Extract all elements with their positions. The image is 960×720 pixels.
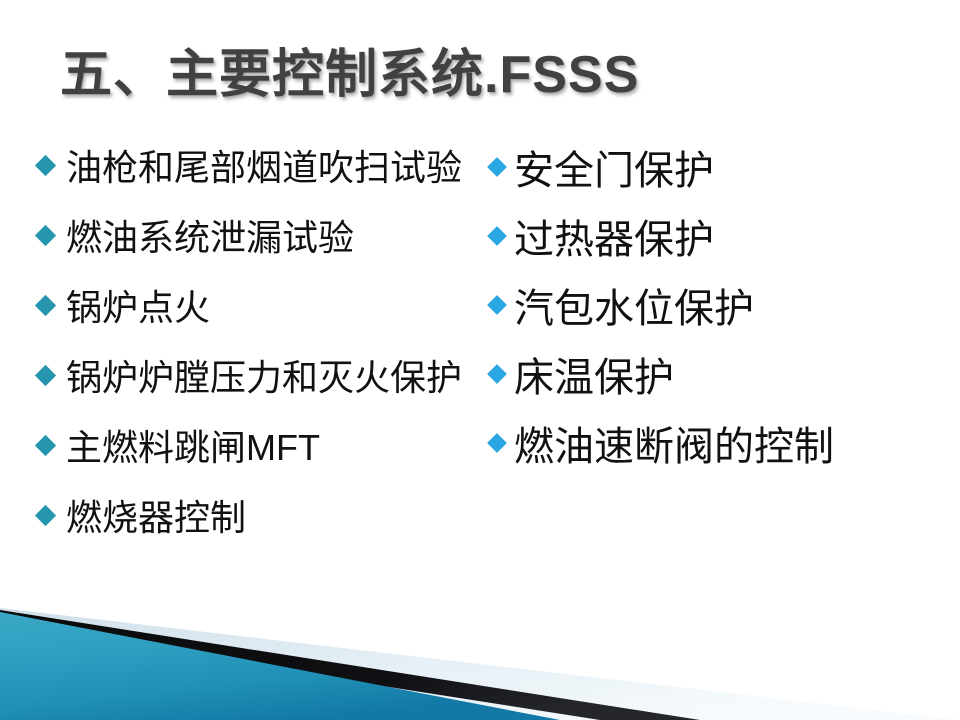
list-item[interactable]: 燃油系统泄漏试验: [30, 200, 490, 270]
diamond-bullet-icon: [35, 434, 56, 455]
list-item-label: 燃油速断阀的控制: [514, 414, 834, 472]
right-bullet-list: 安全门保护 过热器保护 汽包水位保护 床温保护 燃油速断阀的控制: [482, 132, 952, 477]
list-item[interactable]: 燃烧器控制: [30, 480, 490, 550]
list-item[interactable]: 安全门保护: [482, 132, 952, 201]
list-item-label: 汽包水位保护: [514, 276, 754, 334]
bottom-decorative-banner: [0, 580, 960, 720]
list-item-label: 锅炉炉膛压力和灭火保护: [66, 349, 462, 401]
banner-teal-wedge: [0, 612, 560, 720]
list-item[interactable]: 主燃料跳闸MFT: [30, 410, 490, 480]
list-item[interactable]: 燃油速断阀的控制: [482, 408, 952, 477]
list-item[interactable]: 汽包水位保护: [482, 270, 952, 339]
diamond-bullet-icon: [487, 295, 507, 315]
list-item-label: 油枪和尾部烟道吹扫试验: [66, 139, 462, 191]
list-item[interactable]: 过热器保护: [482, 201, 952, 270]
banner-black-stripe: [0, 610, 700, 720]
list-item-label: 主燃料跳闸MFT: [66, 419, 320, 471]
diamond-bullet-icon: [35, 224, 56, 245]
banner-pale-band: [0, 608, 960, 720]
page-title: 五、主要控制系统.FSSS: [60, 48, 639, 103]
diamond-bullet-icon: [35, 294, 56, 315]
list-item-label: 床温保护: [514, 345, 674, 403]
list-item[interactable]: 锅炉点火: [30, 270, 490, 340]
list-item[interactable]: 油枪和尾部烟道吹扫试验: [30, 130, 490, 200]
presentation-slide: 五、主要控制系统.FSSS 油枪和尾部烟道吹扫试验 燃油系统泄漏试验 锅炉点火 …: [0, 0, 960, 720]
diamond-bullet-icon: [35, 504, 56, 525]
list-item[interactable]: 床温保护: [482, 339, 952, 408]
list-item-label: 燃油系统泄漏试验: [66, 209, 354, 261]
list-item[interactable]: 锅炉炉膛压力和灭火保护: [30, 340, 490, 410]
left-bullet-list: 油枪和尾部烟道吹扫试验 燃油系统泄漏试验 锅炉点火 锅炉炉膛压力和灭火保护 主燃…: [30, 130, 490, 550]
diamond-bullet-icon: [35, 154, 56, 175]
diamond-bullet-icon: [35, 364, 56, 385]
list-item-label: 过热器保护: [514, 207, 714, 265]
diamond-bullet-icon: [487, 433, 507, 453]
list-item-label: 锅炉点火: [66, 279, 210, 331]
diamond-bullet-icon: [487, 226, 507, 246]
diamond-bullet-icon: [487, 157, 507, 177]
diamond-bullet-icon: [487, 364, 507, 384]
list-item-label: 安全门保护: [514, 138, 714, 196]
list-item-label: 燃烧器控制: [66, 489, 246, 541]
